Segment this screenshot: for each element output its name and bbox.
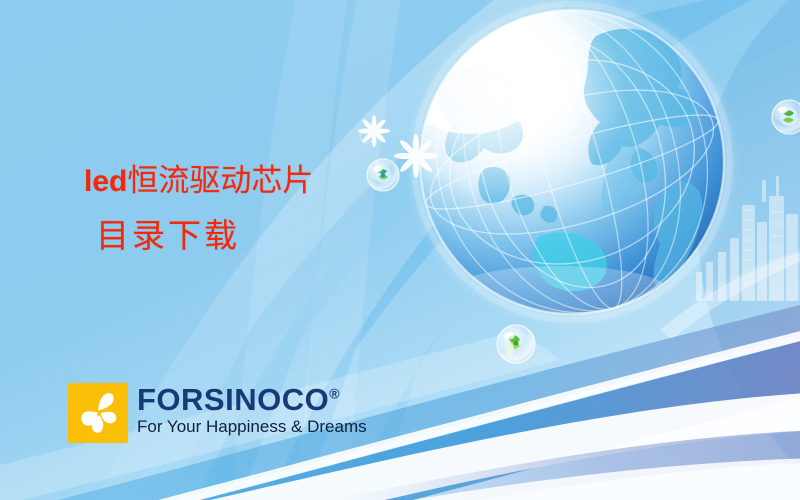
headline-han-text: 恒流驱动芯片 bbox=[127, 163, 313, 199]
bubble-globe-corner bbox=[772, 100, 800, 134]
headline-block: led恒流驱动芯片 目录下载 bbox=[84, 165, 313, 252]
flower-large bbox=[394, 134, 438, 178]
headline-line-2: 目录下载 bbox=[96, 219, 313, 252]
headline-latin-text: led bbox=[84, 165, 127, 198]
logo-text-block: FORSINOCO® For Your Happiness & Dreams bbox=[137, 383, 367, 435]
registered-trademark-symbol: ® bbox=[329, 386, 340, 402]
headline-line-1: led恒流驱动芯片 bbox=[84, 165, 313, 197]
forsinoco-pinwheel-mark-icon bbox=[68, 383, 128, 443]
forsinoco-logo[interactable]: FORSINOCO® For Your Happiness & Dreams bbox=[68, 383, 367, 443]
promo-banner: led恒流驱动芯片 目录下载 FORSINOCO® For Your Happi… bbox=[0, 0, 800, 500]
logo-wordmark-text: FORSINOCO bbox=[137, 382, 329, 417]
logo-wordmark: FORSINOCO® bbox=[137, 384, 367, 415]
logo-tagline: For Your Happiness & Dreams bbox=[137, 418, 367, 435]
bubble-leaf bbox=[497, 325, 535, 363]
bubble-globe-small bbox=[367, 159, 399, 191]
